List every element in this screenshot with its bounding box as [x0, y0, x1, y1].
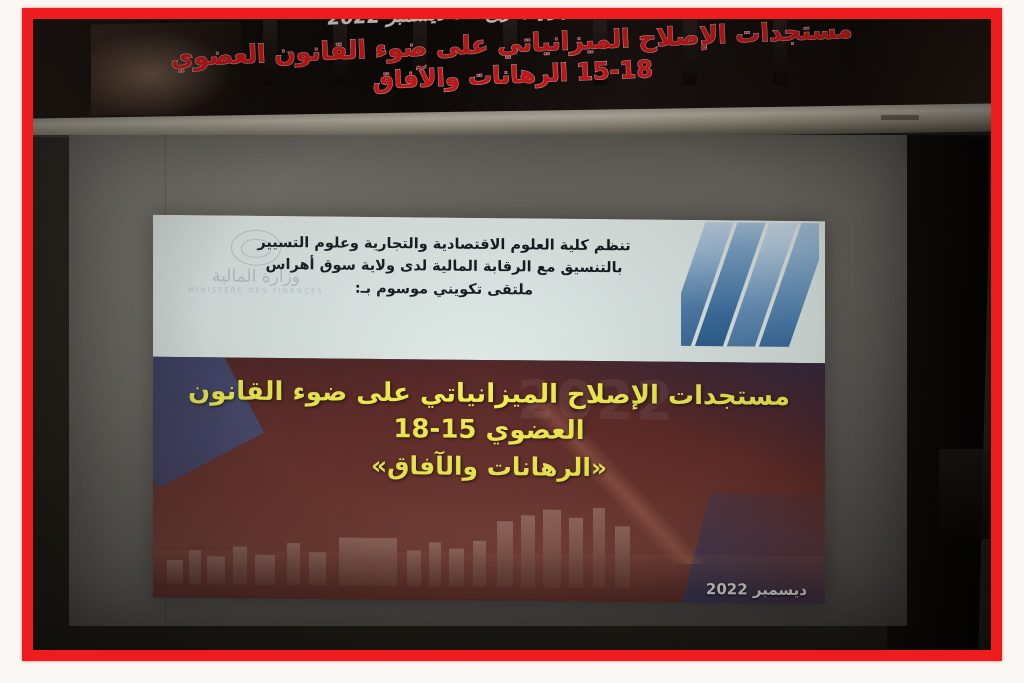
banner-backdrop-bar: [593, 19, 607, 85]
slide-title-line-3: «الرهانات والآفاق»: [175, 446, 803, 487]
banner-backdrop-bar: [333, 19, 347, 85]
backdrop-bar: [309, 552, 326, 585]
backdrop-bar: [543, 510, 561, 588]
room-right-object: [939, 449, 991, 539]
backdrop-bar: [473, 541, 486, 587]
projected-slide: وزارة المالية MINISTERE DES FINANCES تن: [153, 215, 825, 604]
backdrop-bar: [593, 508, 605, 588]
slide-title-line-2: العضوي 15-18: [175, 409, 803, 451]
banner-side-photo: [91, 21, 241, 115]
backdrop-bar: [207, 556, 225, 584]
organizer-line-3: ملتقى تكويني موسوم بـ:: [213, 276, 675, 303]
banner-backdrop-bar: [683, 19, 697, 85]
ledge-marking: [881, 115, 919, 120]
backdrop-bar: [615, 526, 630, 588]
backdrop-bar: [521, 515, 535, 587]
banner-backdrop-bar: [413, 19, 427, 85]
backdrop-bar: [233, 547, 247, 585]
organizer-line-2: بالتنسيق مع الرقابة المالية لدى ولاية سو…: [213, 254, 675, 281]
projection-screen: وزارة المالية MINISTERE DES FINANCES تن: [69, 135, 907, 626]
backdrop-bar: [167, 560, 183, 584]
photo-frame: ملتقى تكويني جهوي بتاريخ 01 ديسمبر 2022 …: [0, 0, 1024, 683]
backdrop-bar: [429, 542, 441, 586]
slide-date-footer: ديسمبر 2022: [706, 580, 807, 599]
blue-diagonal-photo-collage: [681, 222, 819, 347]
backdrop-bar: [407, 550, 421, 586]
conference-photograph: ملتقى تكويني جهوي بتاريخ 01 ديسمبر 2022 …: [33, 19, 991, 650]
banner-backdrop-bar: [263, 19, 277, 85]
slide-organizer-text: تنظم كلية العلوم الاقتصادية والتجارية وع…: [213, 231, 675, 303]
backdrop-building: [339, 538, 397, 587]
backdrop-bar: [449, 549, 464, 587]
backdrop-bar: [287, 543, 300, 585]
banner-backdrop-bar: [773, 19, 787, 85]
slide-title-band: 2022: [153, 357, 825, 604]
backdrop-bar: [189, 550, 201, 584]
slide-header-band: وزارة المالية MINISTERE DES FINANCES تن: [153, 215, 825, 363]
slide-title-line-1: مستجدات الإصلاح الميزانياتي على ضوء القا…: [175, 373, 803, 415]
hall-banner: ملتقى تكويني جهوي بتاريخ 01 ديسمبر 2022 …: [33, 19, 991, 115]
slide-main-title: مستجدات الإصلاح الميزانياتي على ضوء القا…: [175, 373, 803, 487]
backdrop-bar: [569, 518, 583, 588]
backdrop-bar: [497, 521, 513, 587]
backdrop-bar: [255, 555, 275, 585]
bar-chart-cityscape-backdrop: [153, 498, 825, 590]
banner-backdrop-bar: [503, 19, 517, 85]
